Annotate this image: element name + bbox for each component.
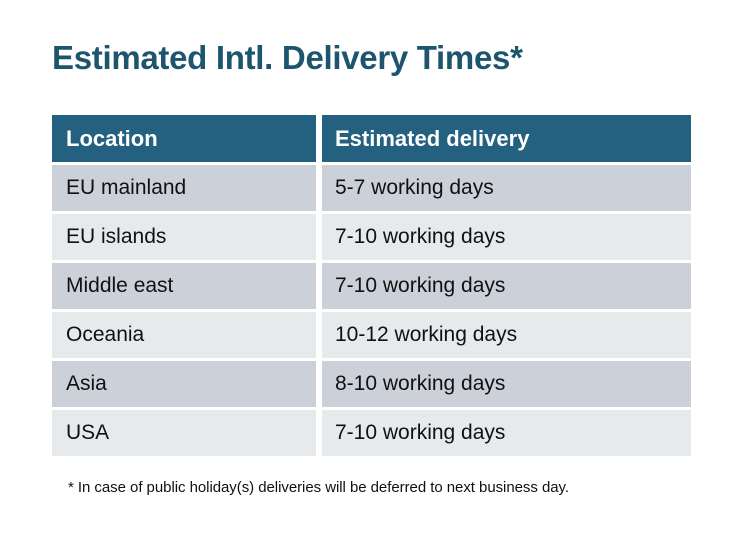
column-header-estimated-delivery: Estimated delivery — [322, 115, 691, 162]
cell-delivery: 8-10 working days — [322, 361, 691, 407]
table-row: EU mainland 5-7 working days — [52, 165, 691, 211]
cell-delivery: 7-10 working days — [322, 263, 691, 309]
estimated-delivery-times-table: Location Estimated delivery EU mainland … — [52, 115, 691, 456]
delivery-times-card: Estimated Intl. Delivery Times* Location… — [0, 0, 745, 536]
table-row: Oceania 10-12 working days — [52, 312, 691, 358]
cell-delivery: 10-12 working days — [322, 312, 691, 358]
table-row: Asia 8-10 working days — [52, 361, 691, 407]
footnote-text: * In case of public holiday(s) deliverie… — [68, 479, 569, 496]
cell-delivery: 7-10 working days — [322, 410, 691, 456]
cell-delivery: 5-7 working days — [322, 165, 691, 211]
table-row: Middle east 7-10 working days — [52, 263, 691, 309]
page-title: Estimated Intl. Delivery Times* — [52, 36, 523, 80]
cell-location: EU mainland — [52, 165, 316, 211]
cell-delivery: 7-10 working days — [322, 214, 691, 260]
cell-location: Asia — [52, 361, 316, 407]
table-header-row: Location Estimated delivery — [52, 115, 691, 162]
cell-location: Middle east — [52, 263, 316, 309]
table-row: EU islands 7-10 working days — [52, 214, 691, 260]
cell-location: EU islands — [52, 214, 316, 260]
column-header-location: Location — [52, 115, 316, 162]
cell-location: Oceania — [52, 312, 316, 358]
table-row: USA 7-10 working days — [52, 410, 691, 456]
cell-location: USA — [52, 410, 316, 456]
